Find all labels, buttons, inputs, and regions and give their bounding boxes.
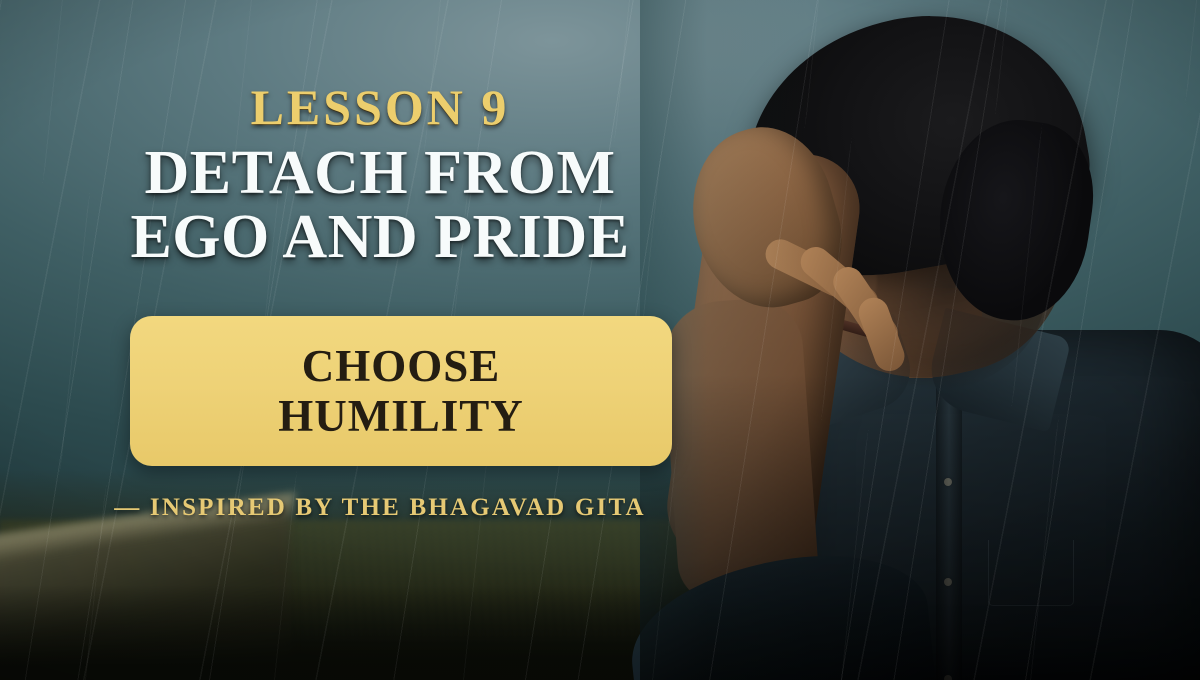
badge-line-1: CHOOSE xyxy=(302,341,501,391)
headline-line-1: DETACH FROM xyxy=(144,139,615,207)
lesson-label: LESSON 9 xyxy=(0,78,760,136)
call-to-action-badge: CHOOSE HUMILITY xyxy=(130,316,672,466)
badge-line-2: HUMILITY xyxy=(278,391,524,441)
attribution-text: — INSPIRED BY THE BHAGAVAD GITA xyxy=(0,494,760,522)
headline-line-2: EGO AND PRIDE xyxy=(0,208,760,266)
text-content: LESSON 9 DETACH FROM EGO AND PRIDE CHOOS… xyxy=(0,0,760,680)
page-title: DETACH FROM EGO AND PRIDE xyxy=(0,144,760,267)
quote-poster: LESSON 9 DETACH FROM EGO AND PRIDE CHOOS… xyxy=(0,0,1200,680)
